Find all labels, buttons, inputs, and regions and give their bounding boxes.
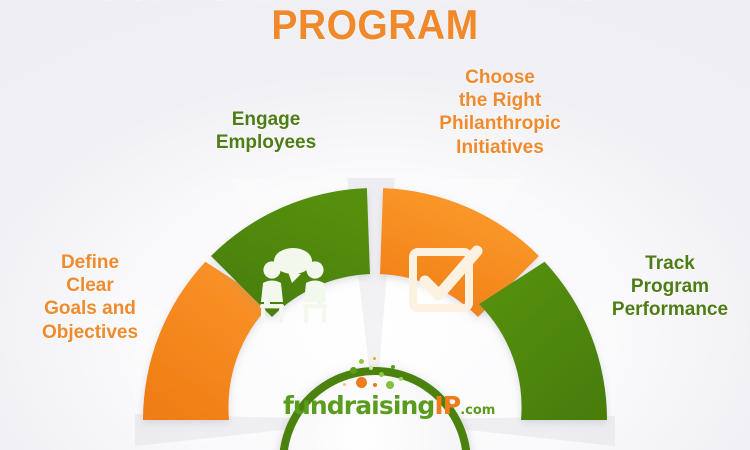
- logo-wordmark: fundraisingIP.com: [283, 391, 483, 420]
- page-title: CORPORATE PHILANTHROPY PROGRAM: [0, 0, 750, 46]
- infographic-canvas: CORPORATE PHILANTHROPY PROGRAM: [0, 0, 750, 450]
- logo-dots-decoration: [323, 357, 443, 391]
- logo-text-dotcom: .com: [460, 403, 495, 418]
- segment-label-choose-right-initiatives: Choose the Right Philanthropic Initiativ…: [410, 66, 590, 159]
- segment-label-track-program-performance: Track Program Performance: [590, 252, 750, 322]
- logo-text-ip: IP: [434, 391, 460, 420]
- title-line-2: PROGRAM: [26, 5, 724, 45]
- segment-label-engage-employees: Engage Employees: [178, 108, 354, 154]
- segment-label-define-clear-goals: Define Clear Goals and Objectives: [10, 251, 170, 344]
- logo-text-fundraising: fundraising: [283, 391, 434, 420]
- brand-logo[interactable]: fundraisingIP.com: [283, 357, 483, 420]
